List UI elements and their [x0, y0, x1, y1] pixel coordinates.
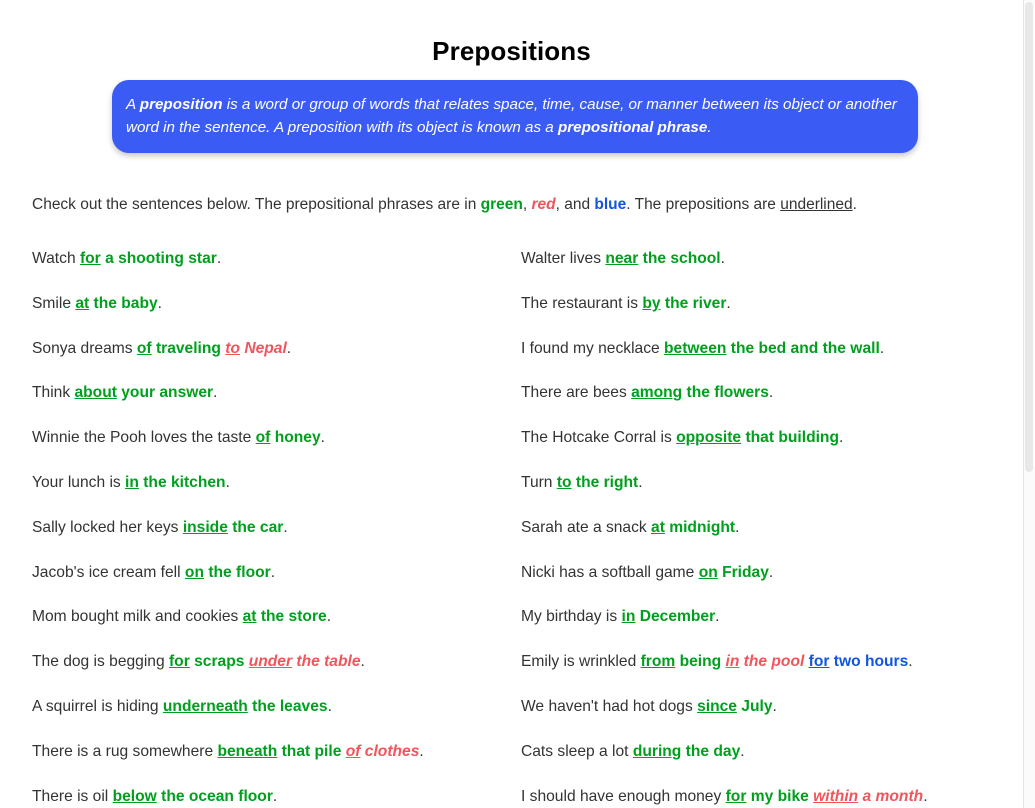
banner-term-prepositional-phrase: prepositional phrase [558, 119, 707, 136]
sentence-fragment: . [880, 340, 884, 357]
sentence-fragment: . [287, 340, 291, 357]
sentence-fragment: my bike [746, 788, 813, 805]
sentence-item: Sally locked her keys inside the car. [32, 517, 502, 562]
sentence-item: Walter lives near the school. [521, 248, 991, 293]
sentence-fragment: the bed and the wall [726, 340, 879, 357]
sentence-item: Jacob's ice cream fell on the floor. [32, 562, 502, 607]
legend-green: green [481, 196, 523, 213]
sentence-item: There is a rug somewhere beneath that pi… [32, 741, 502, 786]
sentence-fragment: the pool [739, 653, 808, 670]
instructions-mid: . The prepositions are [626, 196, 780, 213]
sentence-item: Nicki has a softball game on Friday. [521, 562, 991, 607]
sentence-fragment: a shooting star [101, 250, 217, 267]
sentence-fragment: Friday [718, 564, 769, 581]
sentence-fragment: the baby [89, 295, 157, 312]
preposition: to [225, 340, 240, 357]
preposition: since [697, 698, 737, 715]
sentence-fragment: . [361, 653, 365, 670]
sentence-fragment: the car [228, 519, 283, 536]
sentence-fragment: Think [32, 384, 74, 401]
sentence-fragment: the store [257, 608, 327, 625]
sentence-fragment: My birthday is [521, 608, 622, 625]
sentence-fragment: Walter lives [521, 250, 605, 267]
sentence-item: Emily is wrinkled from being in the pool… [521, 651, 991, 696]
sentence-item: Sonya dreams of traveling to Nepal. [32, 338, 502, 383]
definition-banner: A preposition is a word or group of word… [112, 80, 918, 153]
sentence-item: I should have enough money for my bike w… [521, 786, 991, 808]
preposition: for [726, 788, 747, 805]
sentence-fragment: traveling [152, 340, 226, 357]
sentence-item: Winnie the Pooh loves the taste of honey… [32, 427, 502, 472]
sentence-fragment: There are bees [521, 384, 631, 401]
sentence-fragment: Your lunch is [32, 474, 125, 491]
sentence-fragment: . [735, 519, 739, 536]
preposition: for [169, 653, 190, 670]
preposition: between [664, 340, 726, 357]
sentence-fragment: a month [858, 788, 923, 805]
preposition: beneath [217, 743, 277, 760]
sentence-fragment: There is oil [32, 788, 113, 805]
sentence-item: Cats sleep a lot during the day. [521, 741, 991, 786]
sentence-fragment: two hours [829, 653, 908, 670]
preposition: opposite [676, 429, 741, 446]
sentence-fragment: . [769, 564, 773, 581]
sentence-fragment: that pile [277, 743, 345, 760]
sentence-fragment: The restaurant is [521, 295, 642, 312]
sentence-fragment: Nepal [240, 340, 287, 357]
sentence-fragment: The Hotcake Corral is [521, 429, 676, 446]
sentence-item: There are bees among the flowers. [521, 382, 991, 427]
sentence-item: Watch for a shooting star. [32, 248, 502, 293]
sentence-item: The dog is begging for scraps under the … [32, 651, 502, 696]
sentence-fragment: scraps [190, 653, 249, 670]
sentence-fragment: being [675, 653, 725, 670]
sentence-fragment: . [213, 384, 217, 401]
sentence-item: Turn to the right. [521, 472, 991, 517]
preposition: during [633, 743, 682, 760]
sentence-fragment: . [283, 519, 287, 536]
preposition: from [641, 653, 676, 670]
sentence-fragment: . [715, 608, 719, 625]
sentence-fragment: . [638, 474, 642, 491]
sentence-item: I found my necklace between the bed and … [521, 338, 991, 383]
sentence-fragment: . [271, 564, 275, 581]
scrollbar-thumb[interactable] [1025, 2, 1033, 472]
sentence-fragment: There is a rug somewhere [32, 743, 217, 760]
sentence-item: Mom bought milk and cookies at the store… [32, 606, 502, 651]
preposition: at [75, 295, 89, 312]
sentence-fragment: I found my necklace [521, 340, 664, 357]
sentence-fragment: . [839, 429, 843, 446]
sentence-item: The Hotcake Corral is opposite that buil… [521, 427, 991, 472]
sentence-fragment: your answer [117, 384, 213, 401]
instructions-sep2: , and [556, 196, 595, 213]
sentence-item: Sarah ate a snack at midnight. [521, 517, 991, 562]
sentence-item: A squirrel is hiding underneath the leav… [32, 696, 502, 741]
preposition: about [74, 384, 116, 401]
sentence-fragment: . [321, 429, 325, 446]
preposition: at [243, 608, 257, 625]
sentence-fragment: . [217, 250, 221, 267]
sentence-fragment: Sonya dreams [32, 340, 137, 357]
sentence-fragment: Mom bought milk and cookies [32, 608, 243, 625]
sentence-fragment: midnight [665, 519, 735, 536]
preposition: to [557, 474, 572, 491]
page-title: Prepositions [0, 0, 1023, 67]
worksheet-page: Prepositions A preposition is a word or … [0, 0, 1023, 808]
sentence-fragment: the ocean floor [157, 788, 273, 805]
banner-text-part2: is a word or group of words that relates… [126, 96, 897, 136]
banner-text-part3: . [707, 119, 711, 136]
sentence-fragment: . [773, 698, 777, 715]
sentence-fragment: Sally locked her keys [32, 519, 183, 536]
sentence-fragment: the river [661, 295, 727, 312]
banner-text-part1: A [126, 96, 140, 113]
sentence-fragment: the leaves [248, 698, 328, 715]
sentence-fragment: . [419, 743, 423, 760]
vertical-scrollbar[interactable] [1023, 0, 1035, 808]
legend-red: red [531, 196, 555, 213]
preposition: near [605, 250, 638, 267]
sentence-fragment: . [769, 384, 773, 401]
preposition: of [137, 340, 152, 357]
sentence-fragment: . [908, 653, 912, 670]
preposition: in [125, 474, 139, 491]
sentence-fragment: . [923, 788, 927, 805]
instructions-end: . [853, 196, 857, 213]
sentence-column-right: Walter lives near the school.The restaur… [521, 248, 991, 808]
sentence-item: Smile at the baby. [32, 293, 502, 338]
sentence-item: There is oil below the ocean floor. [32, 786, 502, 808]
sentence-fragment: the floor [204, 564, 271, 581]
sentence-fragment: the table [292, 653, 360, 670]
sentence-fragment: . [273, 788, 277, 805]
preposition: among [631, 384, 682, 401]
preposition: of [256, 429, 271, 446]
sentence-fragment: . [721, 250, 725, 267]
banner-term-preposition: preposition [140, 96, 223, 113]
sentence-item: The restaurant is by the river. [521, 293, 991, 338]
preposition: on [185, 564, 204, 581]
sentence-fragment: Winnie the Pooh loves the taste [32, 429, 256, 446]
preposition: underneath [163, 698, 248, 715]
sentence-column-left: Watch for a shooting star.Smile at the b… [32, 248, 502, 808]
sentence-fragment: the day [681, 743, 740, 760]
sentence-fragment: honey [270, 429, 320, 446]
preposition: for [809, 653, 830, 670]
sentence-fragment: The dog is begging [32, 653, 169, 670]
sentence-fragment: that building [741, 429, 839, 446]
preposition: within [813, 788, 858, 805]
sentence-item: We haven't had hot dogs since July. [521, 696, 991, 741]
sentence-fragment: Watch [32, 250, 80, 267]
sentence-fragment: . [726, 295, 730, 312]
sentence-item: Think about your answer. [32, 382, 502, 427]
sentence-fragment: A squirrel is hiding [32, 698, 163, 715]
sentence-fragment: . [158, 295, 162, 312]
sentence-fragment: I should have enough money [521, 788, 726, 805]
sentence-fragment: Smile [32, 295, 75, 312]
sentence-fragment: Nicki has a softball game [521, 564, 699, 581]
preposition: by [642, 295, 660, 312]
sentence-fragment: Sarah ate a snack [521, 519, 651, 536]
sentence-fragment: the kitchen [139, 474, 226, 491]
legend-underlined: underlined [780, 196, 852, 213]
preposition: under [249, 653, 292, 670]
preposition: in [622, 608, 636, 625]
sentence-fragment: . [226, 474, 230, 491]
sentence-fragment: . [328, 698, 332, 715]
preposition: of [346, 743, 361, 760]
preposition: inside [183, 519, 228, 536]
sentence-fragment: Jacob's ice cream fell [32, 564, 185, 581]
instructions-lead: Check out the sentences below. The prepo… [32, 196, 481, 213]
preposition: at [651, 519, 665, 536]
sentence-fragment: the school [638, 250, 720, 267]
sentence-fragment: clothes [360, 743, 419, 760]
sentence-fragment: . [740, 743, 744, 760]
preposition: on [699, 564, 718, 581]
preposition: for [80, 250, 101, 267]
sentence-item: Your lunch is in the kitchen. [32, 472, 502, 517]
sentence-fragment: December [635, 608, 715, 625]
sentence-fragment: July [737, 698, 773, 715]
preposition: in [725, 653, 739, 670]
legend-blue: blue [594, 196, 626, 213]
sentence-fragment: Emily is wrinkled [521, 653, 641, 670]
instructions-line: Check out the sentences below. The prepo… [32, 196, 857, 214]
sentence-fragment: . [327, 608, 331, 625]
sentence-fragment: We haven't had hot dogs [521, 698, 697, 715]
preposition: below [113, 788, 157, 805]
sentence-fragment: Turn [521, 474, 557, 491]
sentence-item: My birthday is in December. [521, 606, 991, 651]
sentence-columns: Watch for a shooting star.Smile at the b… [0, 248, 1023, 808]
sentence-fragment: the flowers [682, 384, 769, 401]
sentence-fragment: Cats sleep a lot [521, 743, 633, 760]
sentence-fragment: the right [572, 474, 639, 491]
